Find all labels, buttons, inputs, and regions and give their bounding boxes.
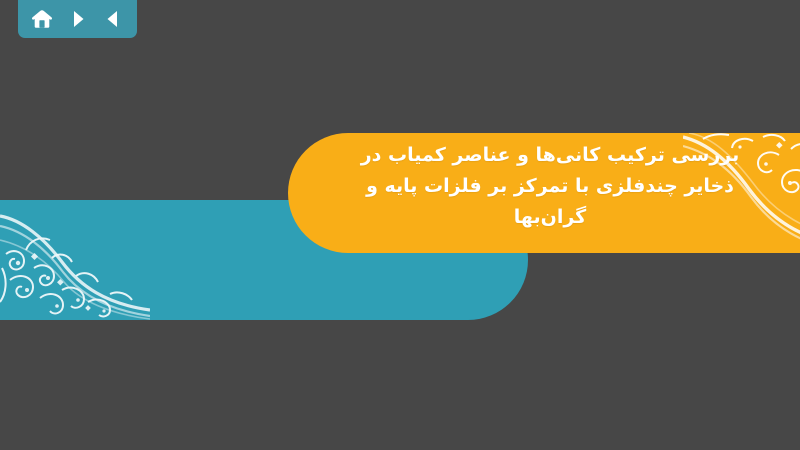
title-line-1: بررسی ترکیب کانی‌ها و عناصر کمیاب در: [361, 140, 740, 171]
next-slide-button[interactable]: [63, 4, 93, 34]
title-line-3: گران‌بها: [514, 202, 586, 233]
previous-slide-button[interactable]: [98, 4, 128, 34]
title-line-2: ذخایر چندفلزی با تمرکز بر فلزات پایه و: [366, 171, 734, 202]
home-icon: [30, 8, 54, 30]
triangle-left-icon: [102, 8, 124, 30]
arabesque-ornament-teal: [0, 210, 150, 320]
navigation-bar: [18, 0, 137, 38]
triangle-right-icon: [67, 8, 89, 30]
home-button[interactable]: [27, 4, 57, 34]
presentation-slide: بررسی ترکیب کانی‌ها و عناصر کمیاب در ذخا…: [0, 0, 800, 450]
slide-title: بررسی ترکیب کانی‌ها و عناصر کمیاب در ذخا…: [300, 132, 800, 257]
